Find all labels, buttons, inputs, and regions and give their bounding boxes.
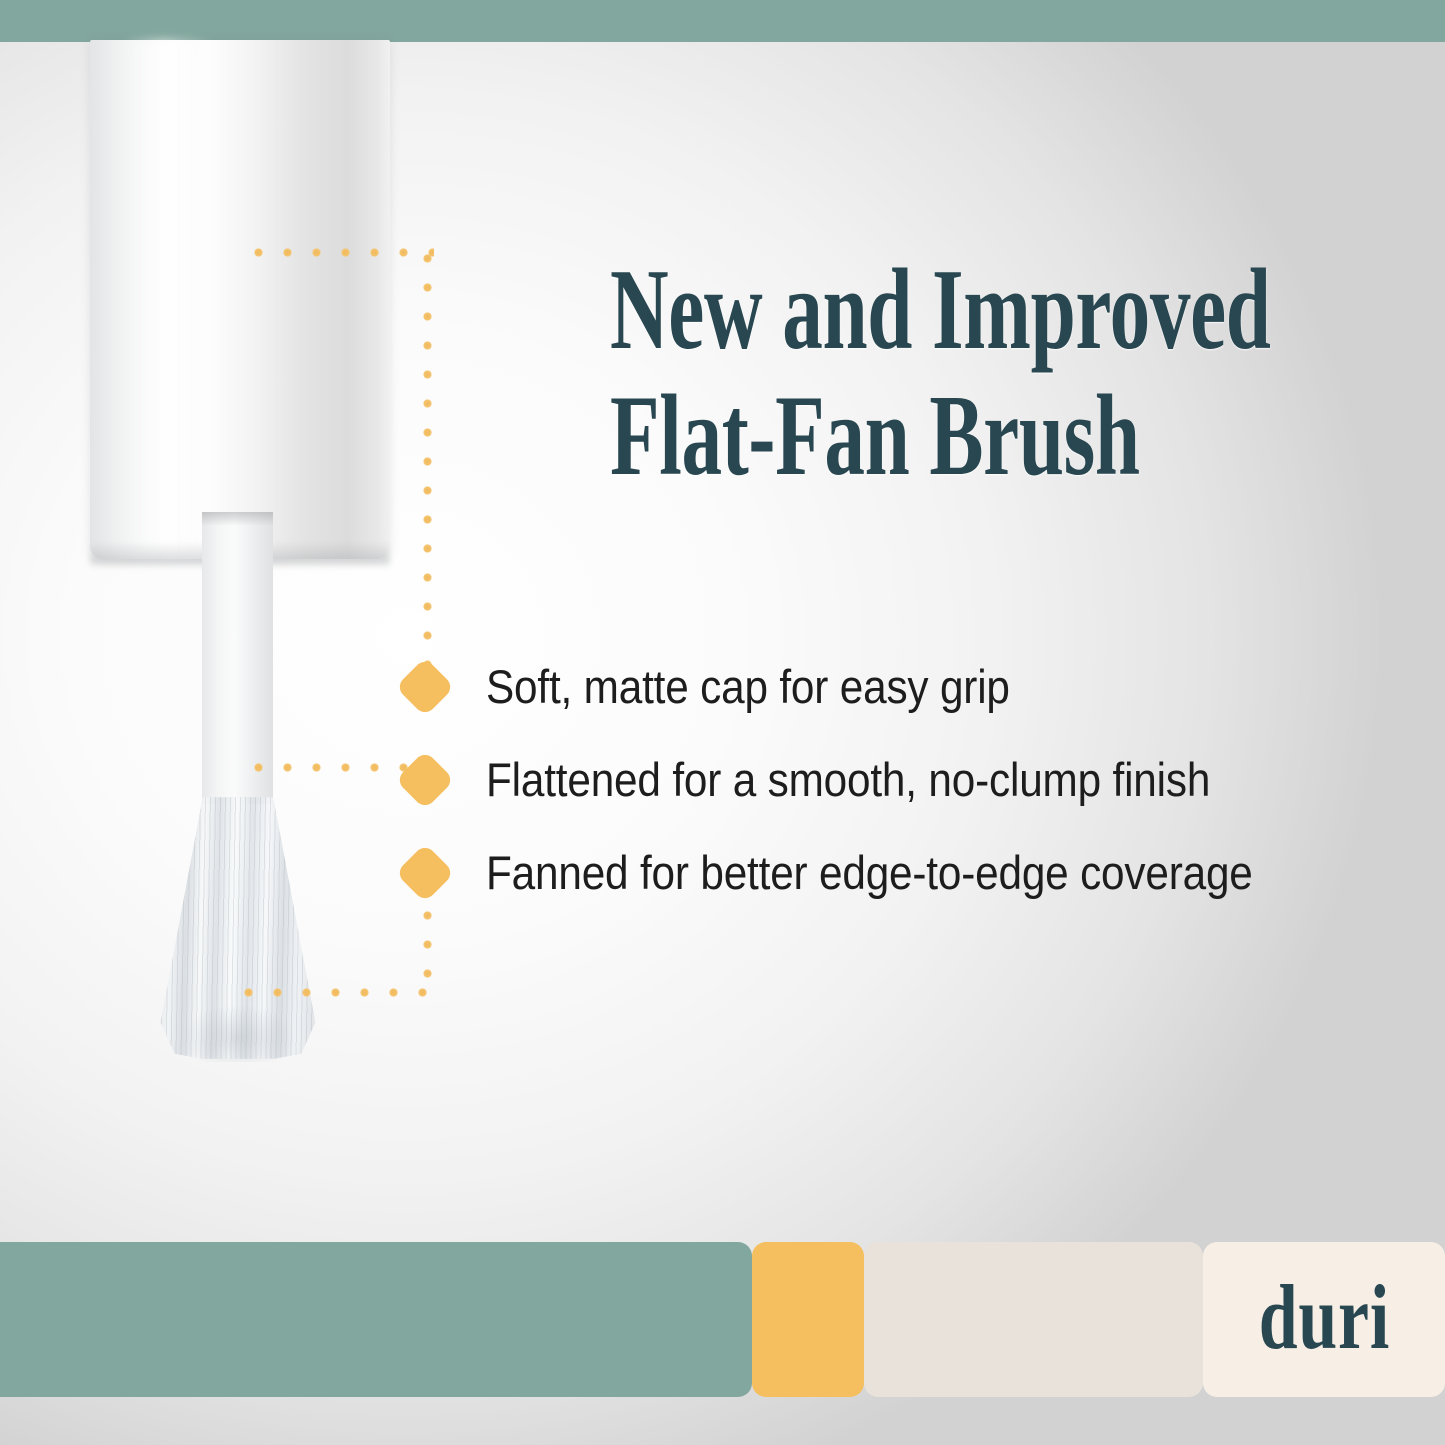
- connector-line-cap-horizontal: [252, 246, 434, 259]
- infographic-canvas: New and Improved Flat-Fan Brush Soft, ma…: [0, 0, 1445, 1445]
- list-item: Flattened for a smooth, no-clump finish: [404, 733, 1404, 826]
- brand-logo: duri: [1203, 1242, 1445, 1397]
- list-item-label: Soft, matte cap for easy grip: [486, 662, 1010, 712]
- cap-highlight: [124, 40, 210, 559]
- bottom-color-bar: duri: [0, 1242, 1445, 1397]
- brand-name: duri: [1258, 1271, 1389, 1369]
- beige-block: [864, 1242, 1203, 1397]
- page-title: New and Improved Flat-Fan Brush: [610, 247, 1142, 499]
- product-photo: [0, 42, 470, 1142]
- connector-line-bristles-horizontal: [242, 986, 432, 999]
- headline-line-2: Flat-Fan Brush: [610, 373, 1142, 499]
- list-item-label: Flattened for a smooth, no-clump finish: [486, 755, 1210, 805]
- diamond-bullet-icon: [395, 750, 454, 809]
- connector-line-cap-vertical: [421, 252, 434, 676]
- sage-accent-band: [0, 0, 1445, 42]
- diamond-bullet-icon: [395, 843, 454, 902]
- diamond-bullet-icon: [395, 657, 454, 716]
- list-item: Soft, matte cap for easy grip: [404, 640, 1404, 733]
- sage-block: [0, 1242, 752, 1397]
- amber-block: [752, 1242, 864, 1397]
- list-item-label: Fanned for better edge-to-edge coverage: [486, 848, 1253, 898]
- cream-logo-block: duri: [1203, 1242, 1445, 1397]
- brush-stem-shadow: [202, 512, 273, 526]
- feature-list: Soft, matte cap for easy grip Flattened …: [404, 640, 1404, 919]
- headline-line-1: New and Improved: [610, 247, 1142, 373]
- list-item: Fanned for better edge-to-edge coverage: [404, 826, 1404, 919]
